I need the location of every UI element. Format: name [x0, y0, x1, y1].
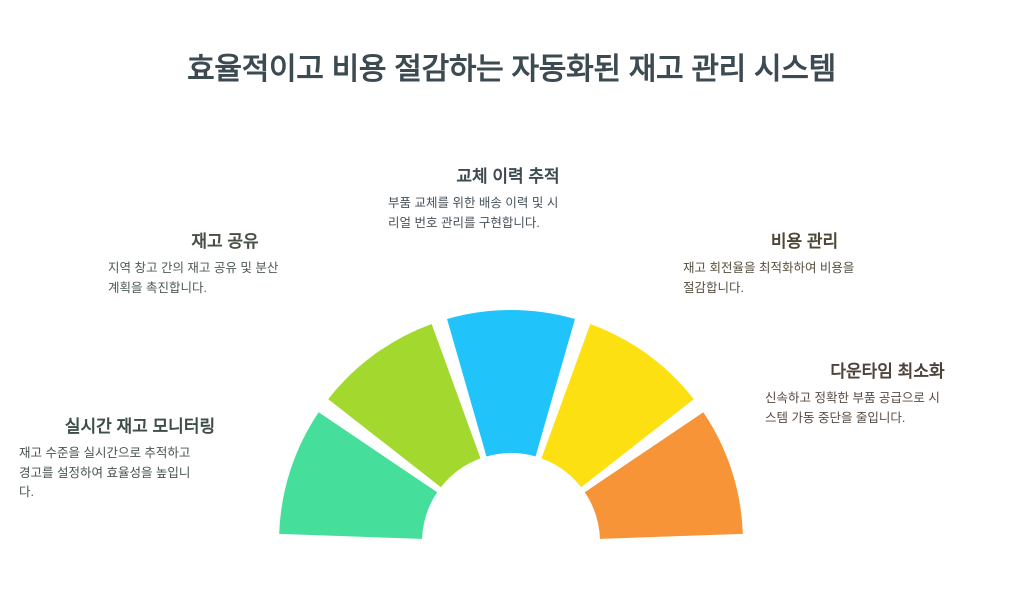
semi-donut-diagram — [263, 295, 760, 550]
callout-title-cost-management: 비용 관리 — [683, 231, 926, 252]
callout-desc-line: 스템 가동 중단을 줄입니다. — [765, 411, 905, 425]
callout-description-inventory-sharing: 지역 창고 간의 재고 공유 및 분산 계획을 촉진합니다. — [108, 259, 342, 298]
callout-desc-line: 재고 수준을 실시간으로 추적하고 — [19, 446, 190, 460]
page-title: 효율적이고 비용 절감하는 자동화된 재고 관리 시스템 — [0, 44, 1023, 88]
callout-desc-line: 리얼 번호 관리를 구현합니다. — [388, 216, 540, 230]
callout-description-replacement-history: 부품 교체를 위한 배송 이력 및 시 리얼 번호 관리를 구현합니다. — [388, 194, 628, 233]
callout-inventory-sharing[interactable]: 재고 공유 지역 창고 간의 재고 공유 및 분산 계획을 촉진합니다. — [108, 231, 342, 298]
donut-segment-group — [279, 310, 743, 539]
callout-desc-line: 재고 회전율을 최적화하여 비용을 — [683, 261, 854, 275]
callout-description-cost-management: 재고 회전율을 최적화하여 비용을 절감합니다. — [683, 259, 926, 298]
callout-title-downtime-minimization: 다운타임 최소화 — [765, 361, 1010, 382]
callout-description-realtime-monitoring: 재고 수준을 실시간으로 추적하고 경고를 설정하여 효율성을 높입니 다. — [19, 444, 261, 502]
callout-replacement-history[interactable]: 교체 이력 추적 부품 교체를 위한 배송 이력 및 시 리얼 번호 관리를 구… — [388, 166, 628, 233]
callout-desc-line: 계획을 촉진합니다. — [108, 281, 207, 295]
callout-title-inventory-sharing: 재고 공유 — [108, 231, 342, 252]
semi-donut-svg — [263, 295, 760, 550]
callout-description-downtime-minimization: 신속하고 정확한 부품 공급으로 시 스템 가동 중단을 줄입니다. — [765, 389, 1010, 428]
callout-desc-line: 신속하고 정확한 부품 공급으로 시 — [765, 391, 940, 405]
callout-desc-line: 다. — [19, 485, 34, 499]
infographic-canvas: 효율적이고 비용 절감하는 자동화된 재고 관리 시스템 교체 이력 추적 부품… — [0, 0, 1023, 603]
callout-title-realtime-monitoring: 실시간 재고 모니터링 — [19, 416, 261, 437]
callout-cost-management[interactable]: 비용 관리 재고 회전율을 최적화하여 비용을 절감합니다. — [683, 231, 926, 298]
callout-desc-line: 절감합니다. — [683, 281, 744, 295]
callout-desc-line: 경고를 설정하여 효율성을 높입니 — [19, 466, 190, 480]
callout-realtime-monitoring[interactable]: 실시간 재고 모니터링 재고 수준을 실시간으로 추적하고 경고를 설정하여 효… — [19, 416, 261, 502]
callout-desc-line: 부품 교체를 위한 배송 이력 및 시 — [388, 196, 558, 210]
callout-downtime-minimization[interactable]: 다운타임 최소화 신속하고 정확한 부품 공급으로 시 스템 가동 중단을 줄입… — [765, 361, 1010, 428]
callout-title-replacement-history: 교체 이력 추적 — [388, 166, 628, 187]
callout-desc-line: 지역 창고 간의 재고 공유 및 분산 — [108, 261, 278, 275]
